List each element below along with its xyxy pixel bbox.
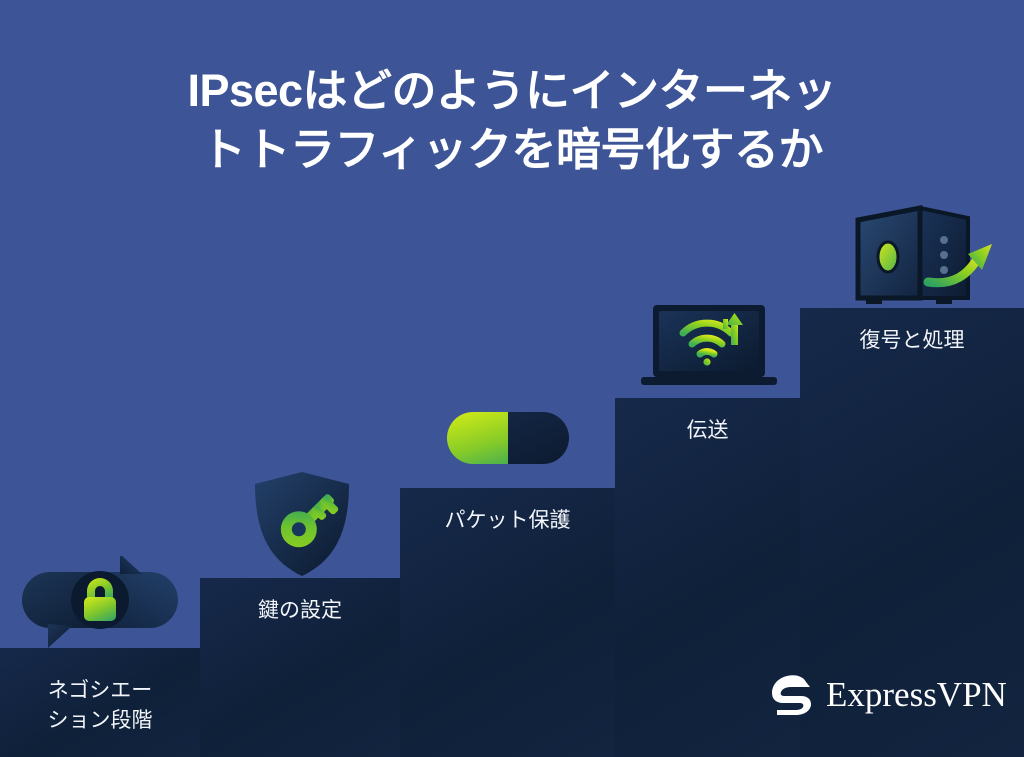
speech-bubbles-lock-icon (16, 556, 184, 648)
expressvpn-logo: ExpressVPN (770, 670, 986, 718)
expressvpn-e-mark-icon (770, 672, 814, 716)
page-title-line-2: トトラフィックを暗号化するか (0, 121, 1024, 180)
shield-key-icon (252, 470, 352, 578)
expressvpn-wordmark: ExpressVPN (826, 677, 1007, 712)
ipsec-infographic: IPsecはどのようにインターネッ トトラフィックを暗号化するか ネゴシエー シ… (0, 0, 1024, 757)
page-title: IPsecはどのようにインターネッ トトラフィックを暗号化するか (0, 62, 1024, 179)
step-label-transmission: 伝送 (615, 416, 800, 446)
laptop-wifi-icon (639, 303, 779, 393)
safe-vault-arrow-icon (850, 200, 998, 308)
step-label-key-setup: 鍵の設定 (200, 596, 400, 626)
step-label-negotiation: ネゴシエー ション段階 (0, 676, 200, 737)
capsule-packet-icon (447, 412, 569, 464)
step-label-packet-protection: パケット保護 (400, 506, 615, 536)
page-title-line-1: IPsecはどのようにインターネッ (0, 62, 1024, 121)
step-label-decrypt-process: 復号と処理 (800, 326, 1024, 356)
